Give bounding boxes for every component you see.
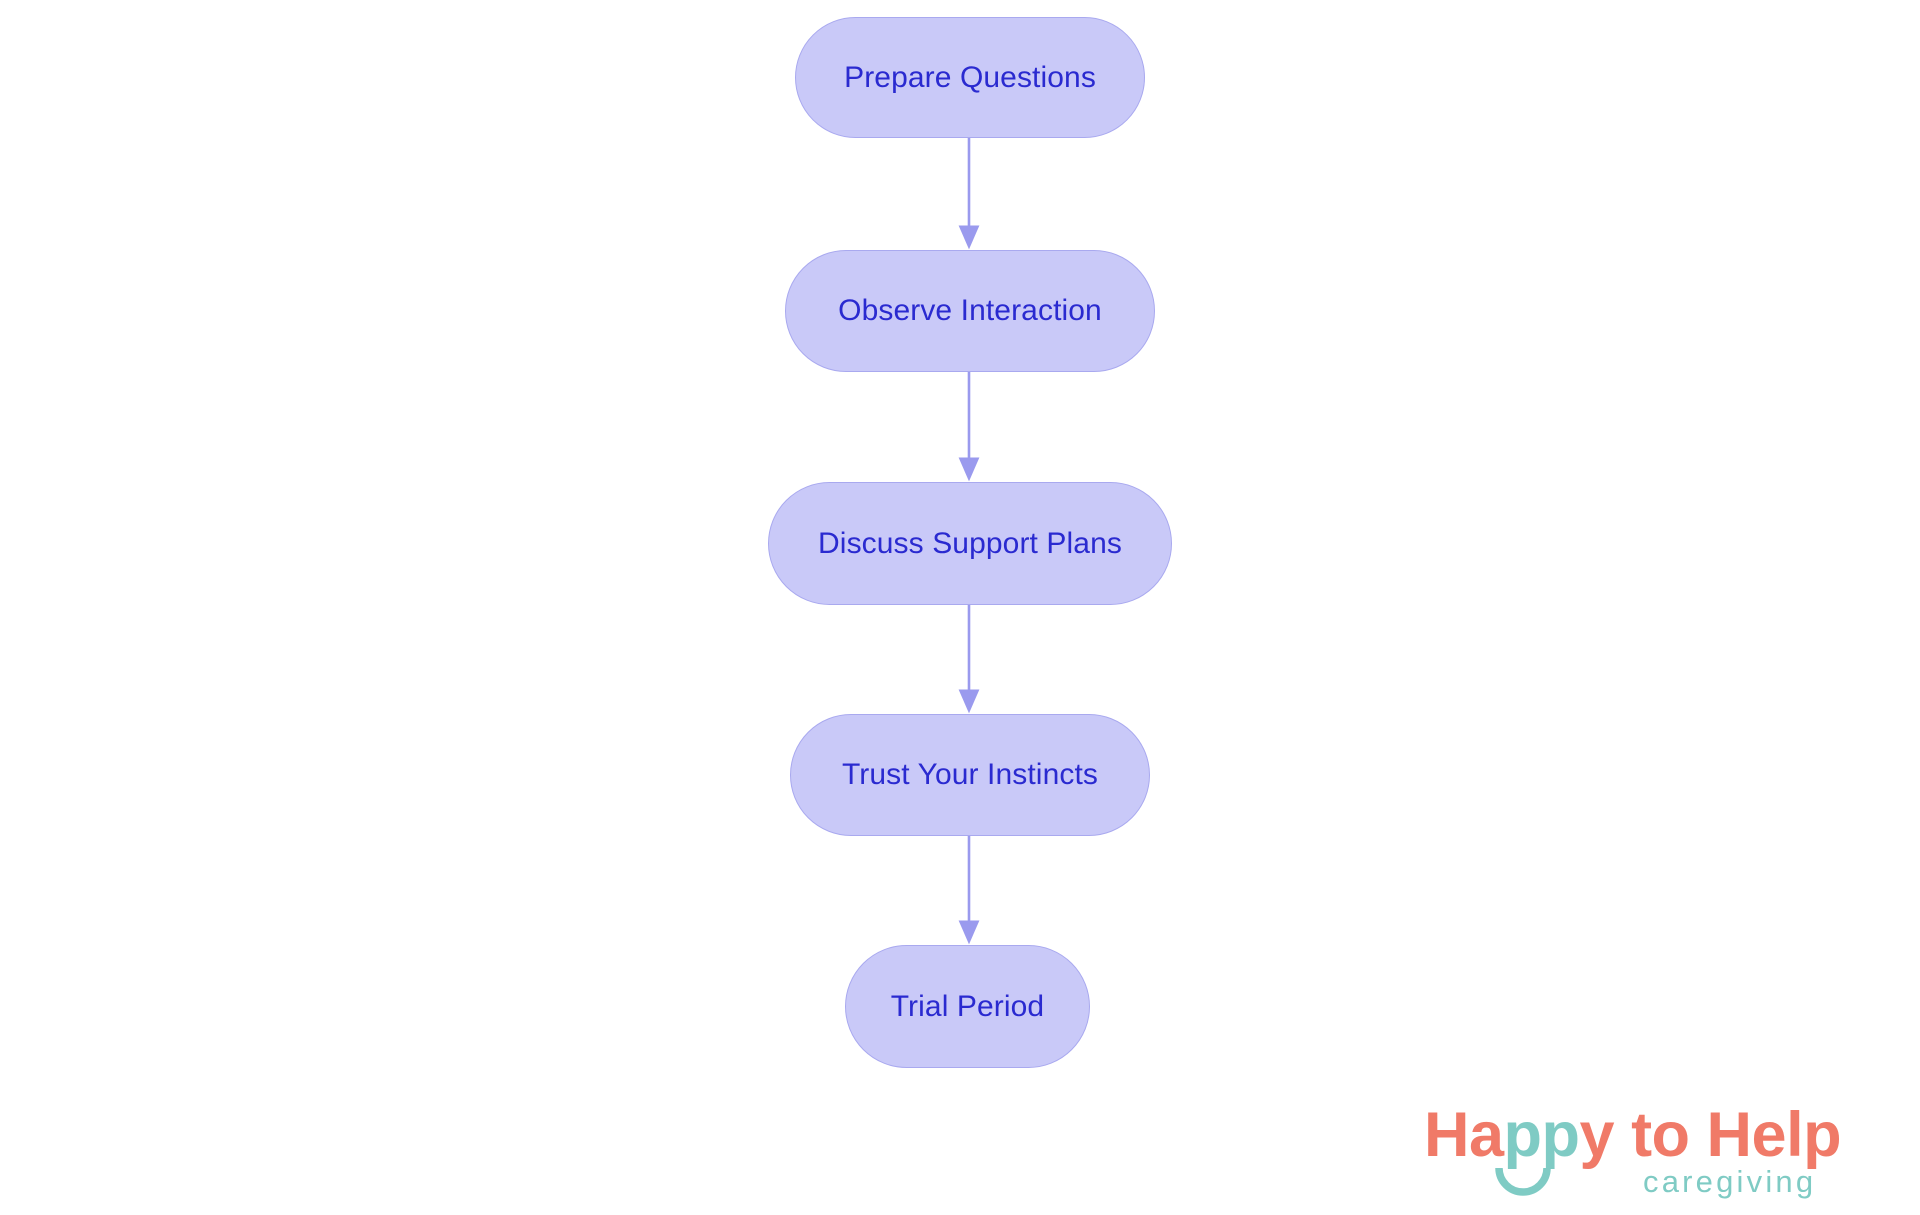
logo-wordmark: Happy to Help xyxy=(1424,1104,1841,1167)
logo-tagline: caregiving xyxy=(1643,1166,1816,1197)
flow-node-discuss-support-plans[interactable]: Discuss Support Plans xyxy=(768,482,1172,605)
smile-arc-icon xyxy=(1495,1166,1551,1196)
flow-node-label: Trust Your Instincts xyxy=(842,760,1098,790)
flowchart-canvas: Prepare Questions Observe Interaction Di… xyxy=(0,0,1920,1215)
logo-text-to-help: to Help xyxy=(1614,1100,1841,1170)
flow-node-label: Observe Interaction xyxy=(838,296,1102,326)
flow-node-label: Discuss Support Plans xyxy=(818,529,1122,559)
flow-node-trial-period[interactable]: Trial Period xyxy=(845,945,1090,1068)
logo-text-y: y xyxy=(1580,1100,1615,1170)
logo-text-pp: pp xyxy=(1504,1100,1580,1170)
flow-node-label: Prepare Questions xyxy=(844,63,1096,93)
flow-node-observe-interaction[interactable]: Observe Interaction xyxy=(785,250,1155,372)
brand-logo: Happy to Help caregiving xyxy=(1424,1104,1894,1204)
flow-node-trust-your-instincts[interactable]: Trust Your Instincts xyxy=(790,714,1150,836)
logo-text-ha: Ha xyxy=(1424,1100,1504,1170)
flow-node-label: Trial Period xyxy=(891,992,1044,1022)
flow-node-prepare-questions[interactable]: Prepare Questions xyxy=(795,17,1145,138)
